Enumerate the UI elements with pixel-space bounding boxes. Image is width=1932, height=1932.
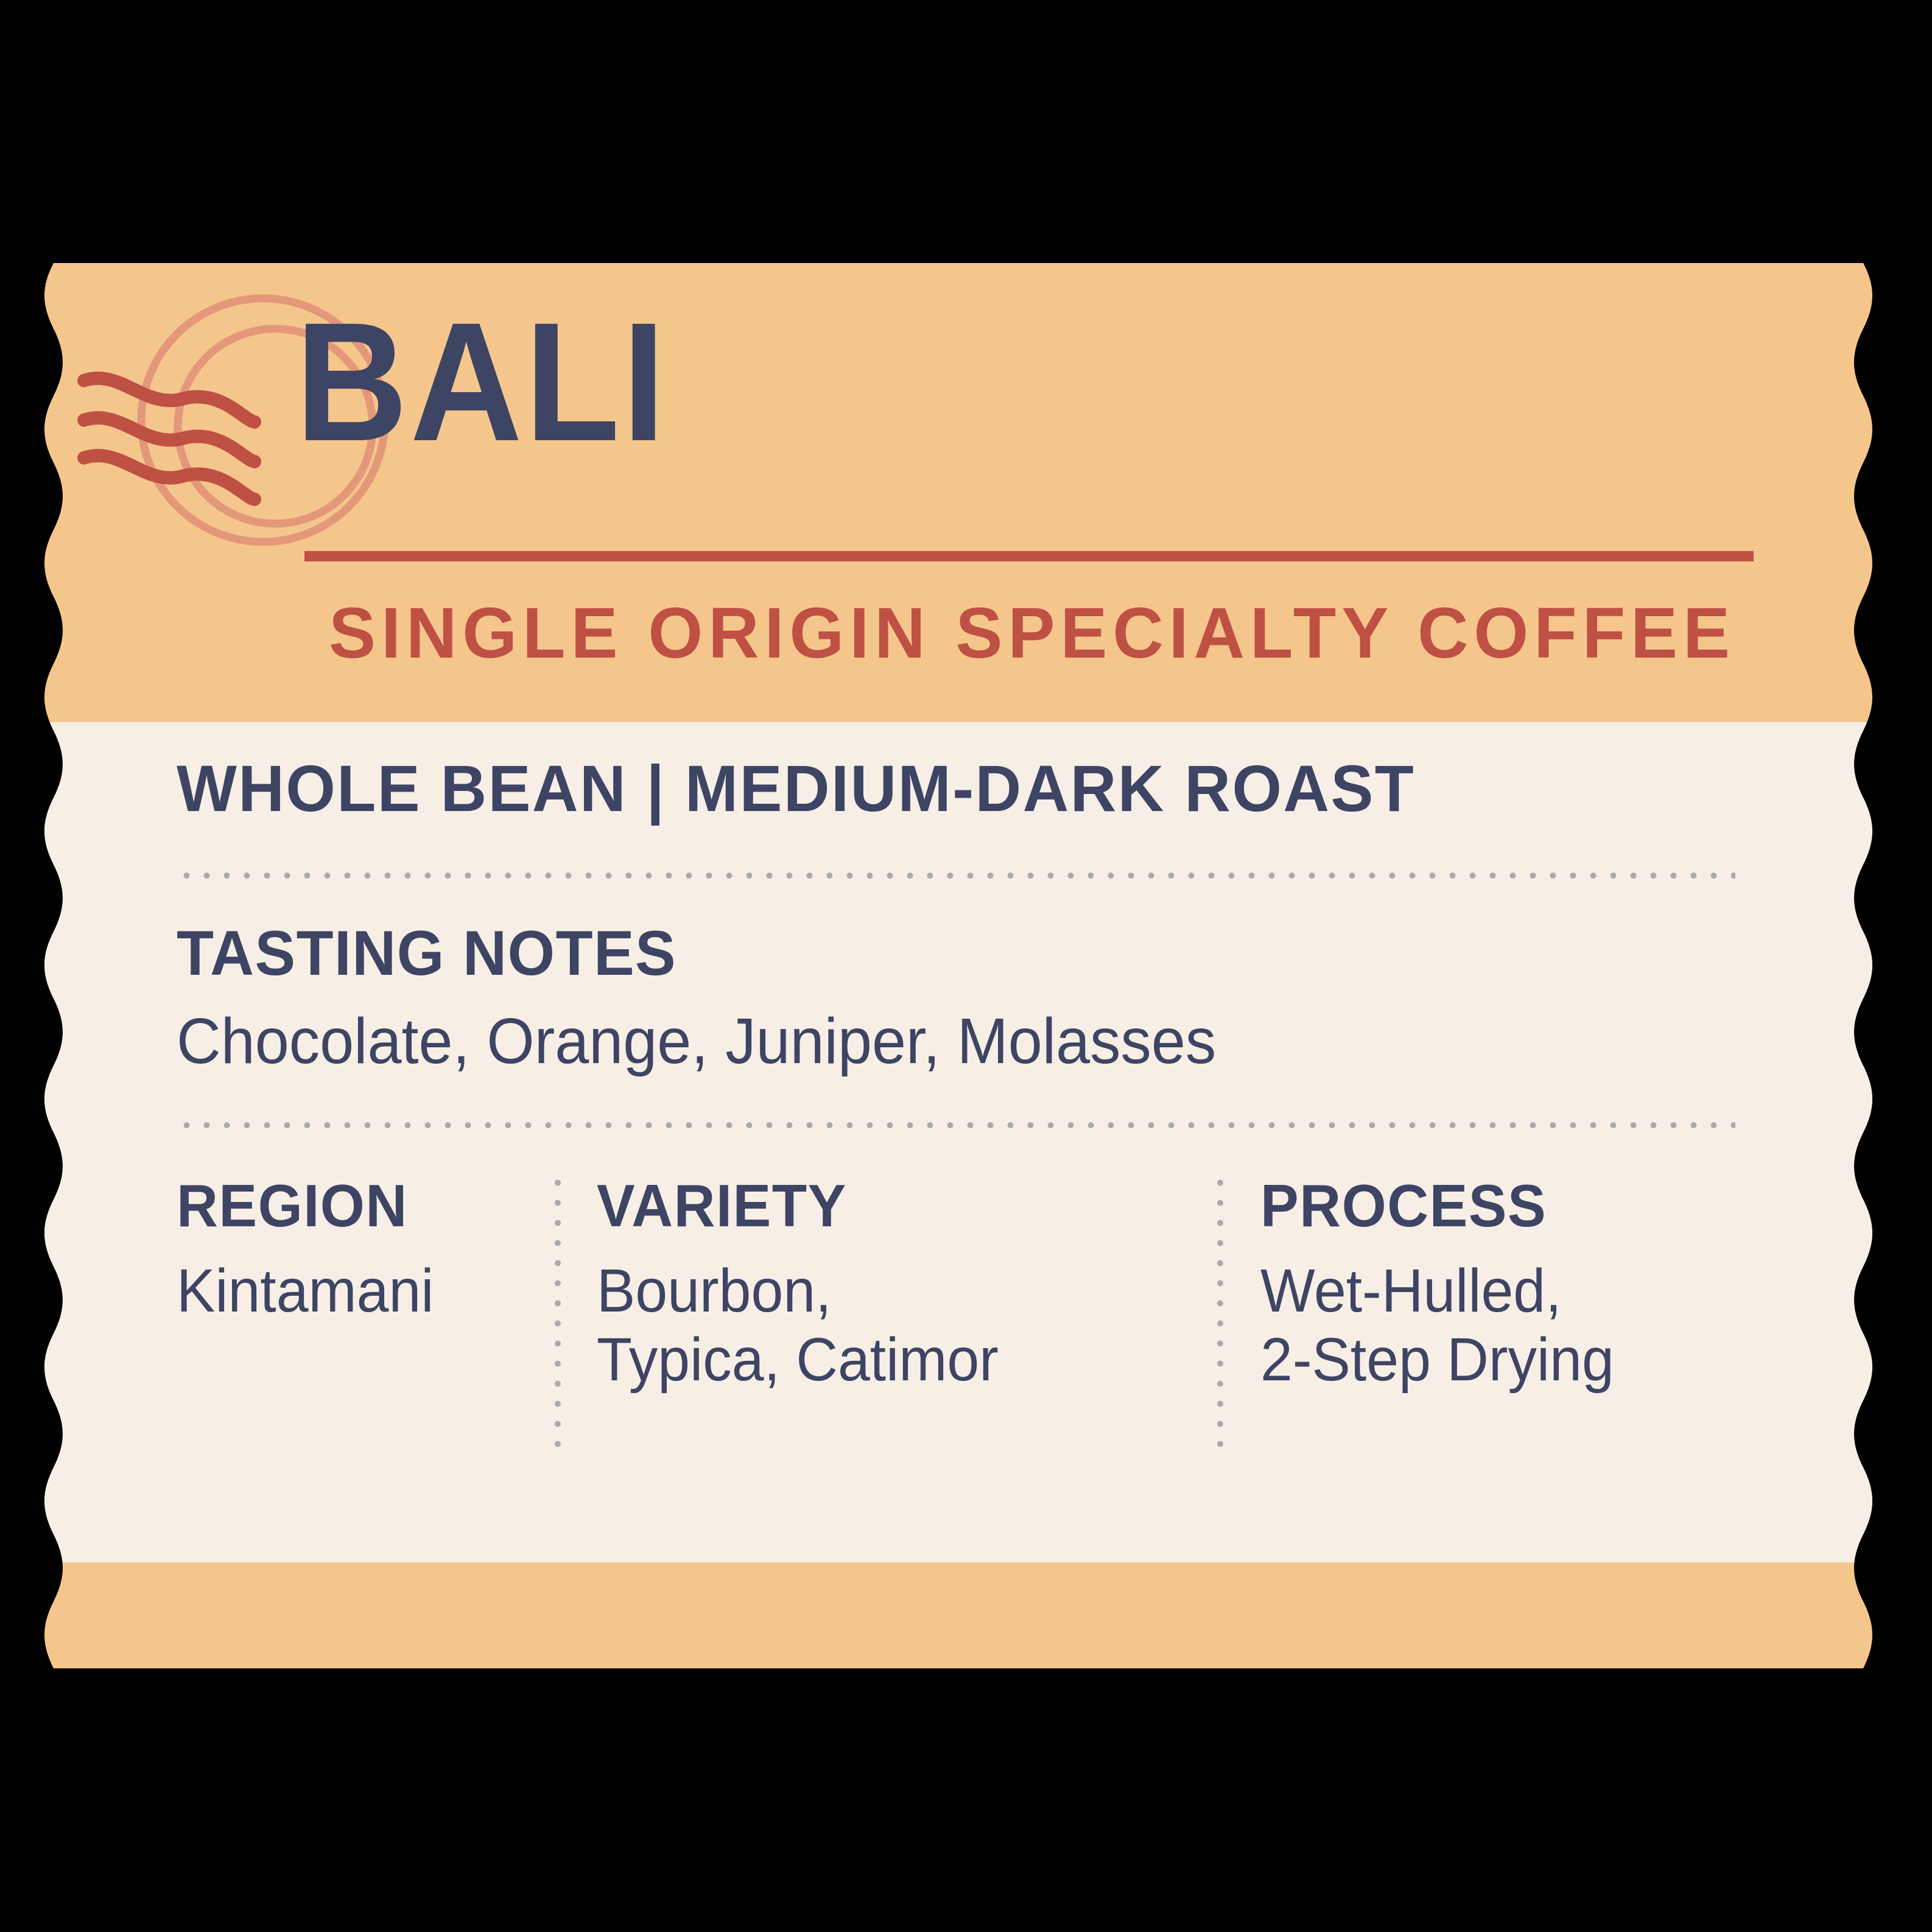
page-title: BALI [295, 297, 667, 466]
variety-heading: VARIETY [597, 1173, 1193, 1238]
spec-columns: REGION Kintamani VARIETY Bourbon, Typica… [177, 1173, 1735, 1459]
divider-dots-bottom [177, 1122, 1735, 1129]
label-header: BALI SINGLE ORIGIN SPECIALTY COFFEE [49, 256, 1839, 722]
divider-dots-top [177, 872, 1735, 879]
divider-dots-vertical-1 [554, 1173, 561, 1447]
spec-column-variety: VARIETY Bourbon, Typica, Catimor [597, 1173, 1218, 1394]
spec-column-region: REGION Kintamani [177, 1173, 554, 1326]
process-value: Wet-Hulled, 2-Step Drying [1260, 1257, 1712, 1394]
spec-column-process: PROCESS Wet-Hulled, 2-Step Drying [1260, 1173, 1735, 1394]
variety-value: Bourbon, Typica, Catimor [597, 1257, 1187, 1394]
tasting-notes-heading: TASTING NOTES [177, 918, 1673, 989]
region-heading: REGION [177, 1173, 539, 1238]
tasting-notes-value: Chocolate, Orange, Juniper, Molasses [177, 1005, 1657, 1078]
tasting-notes-section: TASTING NOTES Chocolate, Orange, Juniper… [177, 918, 1735, 1078]
divider-dots-vertical-2 [1217, 1173, 1224, 1447]
coffee-label: BALI SINGLE ORIGIN SPECIALTY COFFEE WHOL… [0, 0, 1932, 1932]
region-value: Kintamani [177, 1257, 535, 1326]
roast-spec-line: WHOLE BEAN | MEDIUM-DARK ROAST [177, 749, 1688, 828]
title-row: BALI [49, 286, 1839, 475]
title-underline-rule [304, 551, 1754, 561]
process-heading: PROCESS [1260, 1173, 1716, 1238]
label-subtitle: SINGLE ORIGIN SPECIALTY COFFEE [319, 594, 1745, 673]
label-body: WHOLE BEAN | MEDIUM-DARK ROAST TASTING N… [177, 749, 1735, 1459]
